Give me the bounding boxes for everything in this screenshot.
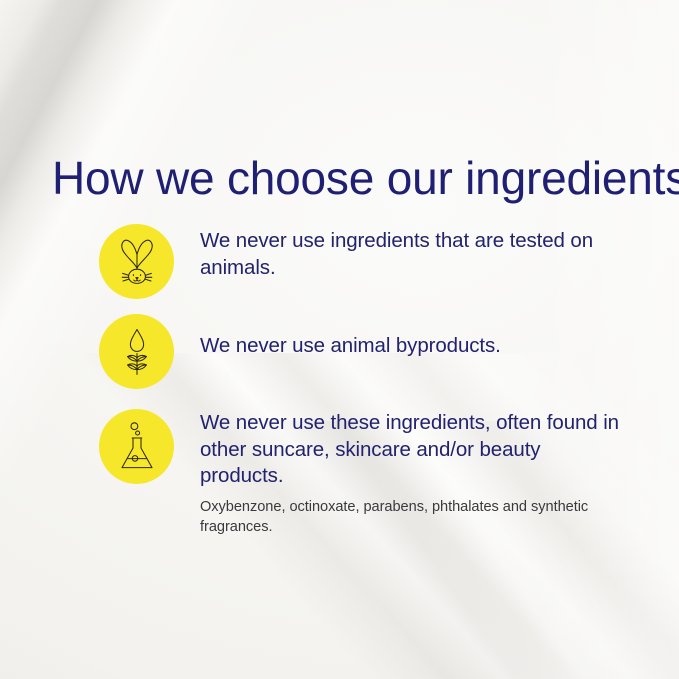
bunny-icon <box>113 236 161 288</box>
benefit-text: We never use animal byproducts. <box>200 333 619 360</box>
benefit-item-no-animal-byproducts: We never use animal byproducts. <box>99 314 619 389</box>
benefit-item-cruelty-free: We never use ingredients that are tested… <box>99 224 619 299</box>
infographic-content: How we choose our ingredients <box>0 0 679 679</box>
flask-icon-badge <box>99 409 174 484</box>
plant-icon-badge <box>99 314 174 389</box>
benefit-item-no-harmful-ingredients: We never use these ingredients, often fo… <box>99 409 619 537</box>
benefit-text-block: We never use ingredients that are tested… <box>174 224 619 281</box>
bunny-icon-badge <box>99 224 174 299</box>
benefit-text: We never use ingredients that are tested… <box>200 228 619 281</box>
benefit-text-block: We never use these ingredients, often fo… <box>174 409 619 537</box>
page-title: How we choose our ingredients <box>52 153 679 204</box>
flask-icon <box>115 421 159 473</box>
benefit-text-block: We never use animal byproducts. <box>174 314 619 360</box>
plant-icon <box>116 327 158 377</box>
infographic-canvas: How we choose our ingredients <box>0 0 679 679</box>
benefit-subtext: Oxybenzone, octinoxate, parabens, phthal… <box>200 497 619 537</box>
benefit-text: We never use these ingredients, often fo… <box>200 410 619 490</box>
benefit-list: We never use ingredients that are tested… <box>99 224 619 552</box>
